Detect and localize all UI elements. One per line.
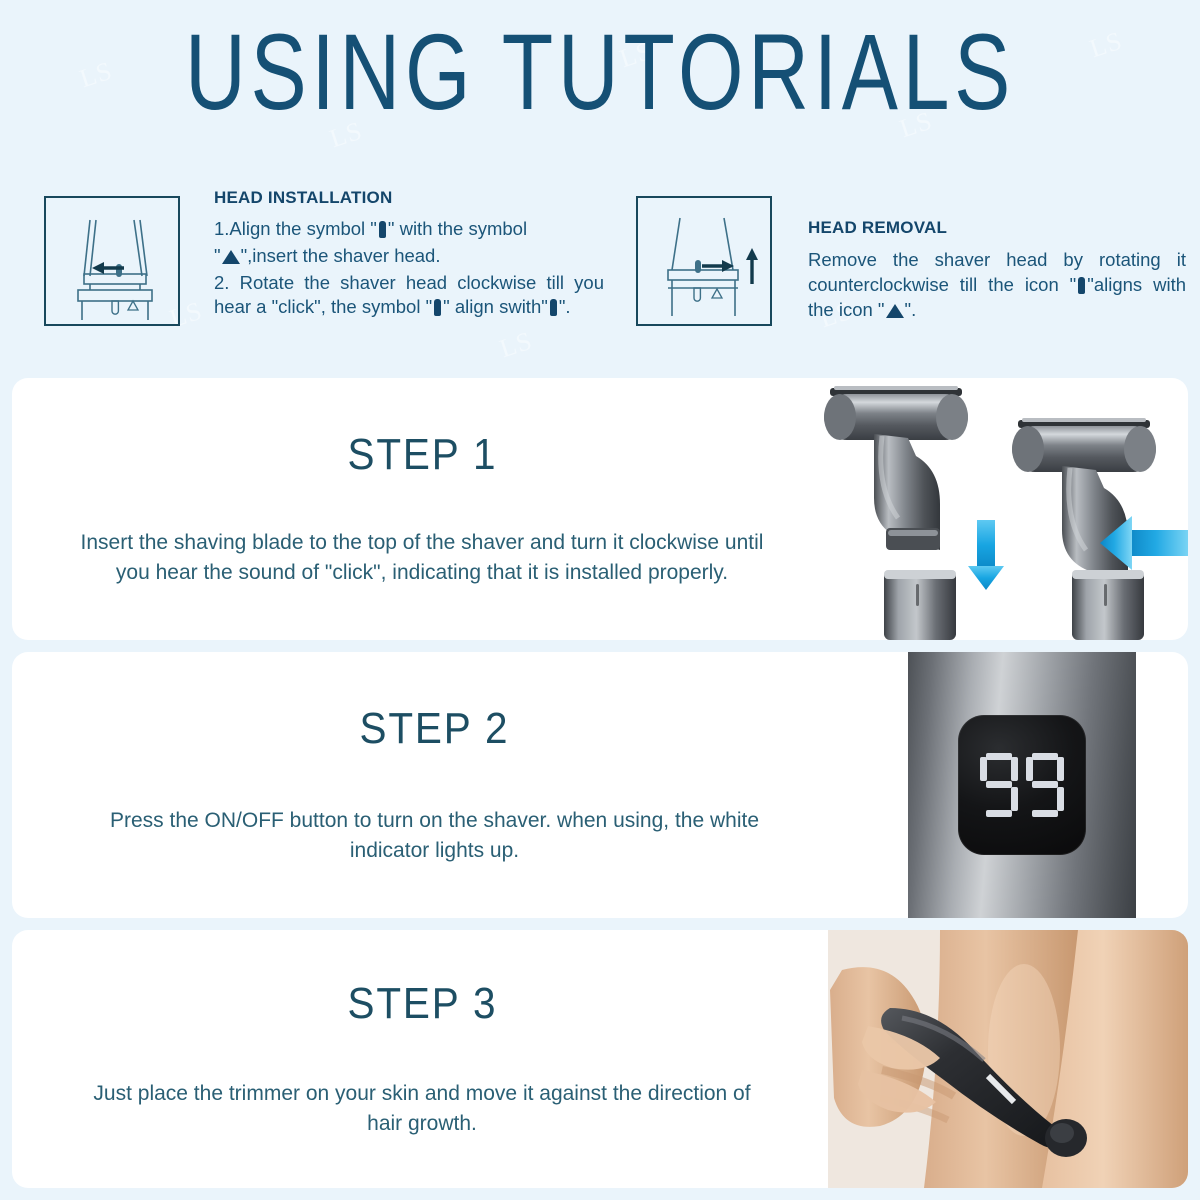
step-3-image — [828, 930, 1188, 1188]
head-installation-diagram — [44, 196, 180, 326]
bar-symbol-icon — [379, 221, 386, 238]
shaver-left — [824, 386, 968, 640]
head-removal-text: HEAD REMOVAL Remove the shaver head by r… — [808, 218, 1186, 324]
head-removal-body: Remove the shaver head by rotating it co… — [808, 247, 1186, 322]
step-1-image — [812, 378, 1188, 640]
bar-symbol-icon — [434, 299, 441, 316]
triangle-symbol-icon — [222, 250, 240, 264]
step-2-body: Press the ON/OFF button to turn on the s… — [90, 806, 780, 866]
led-display-panel — [958, 715, 1086, 855]
triangle-symbol-icon — [886, 304, 904, 318]
down-arrow-icon — [968, 520, 1004, 590]
step-2-image — [856, 652, 1188, 918]
step-2-text: STEP 2 Press the ON/OFF button to turn o… — [12, 652, 857, 918]
bar-symbol-icon — [1078, 277, 1085, 294]
step-3-body: Just place the trimmer on your skin and … — [77, 1079, 767, 1139]
step-3-card: STEP 3 Just place the trimmer on your sk… — [12, 930, 1188, 1188]
up-arrow-icon — [746, 248, 758, 284]
step-1-heading: STEP 1 — [347, 430, 497, 480]
instructions-section: HEAD INSTALLATION 1.Align the symbol "" … — [0, 178, 1200, 358]
install-step-2: 2. Rotate the shaver head clockwise till… — [214, 271, 604, 321]
led-digit — [980, 753, 1018, 817]
step-1-body: Insert the shaving blade to the top of t… — [77, 528, 767, 588]
step-2-heading: STEP 2 — [360, 704, 510, 754]
install-step-1: 1.Align the symbol "" with the symbol — [214, 217, 604, 242]
install-step-1-cont: "",insert the shaver head. — [214, 244, 604, 269]
led-digit — [1026, 753, 1064, 817]
page-title: USING TUTORIALS — [132, 18, 1068, 126]
head-installation-text: HEAD INSTALLATION 1.Align the symbol "" … — [214, 188, 604, 322]
bar-symbol-icon — [550, 299, 557, 316]
step-3-text: STEP 3 Just place the trimmer on your sk… — [12, 930, 832, 1188]
head-installation-title: HEAD INSTALLATION — [214, 188, 604, 208]
led-display-value — [980, 753, 1064, 817]
step-1-text: STEP 1 Insert the shaving blade to the t… — [12, 378, 832, 640]
step-2-card: STEP 2 Press the ON/OFF button to turn o… — [12, 652, 1188, 918]
head-removal-diagram — [636, 196, 772, 326]
step-1-card: STEP 1 Insert the shaving blade to the t… — [12, 378, 1188, 640]
step-3-heading: STEP 3 — [347, 979, 497, 1029]
shaver-right — [1012, 418, 1156, 640]
shaver-body — [908, 652, 1136, 918]
head-removal-title: HEAD REMOVAL — [808, 218, 1186, 238]
